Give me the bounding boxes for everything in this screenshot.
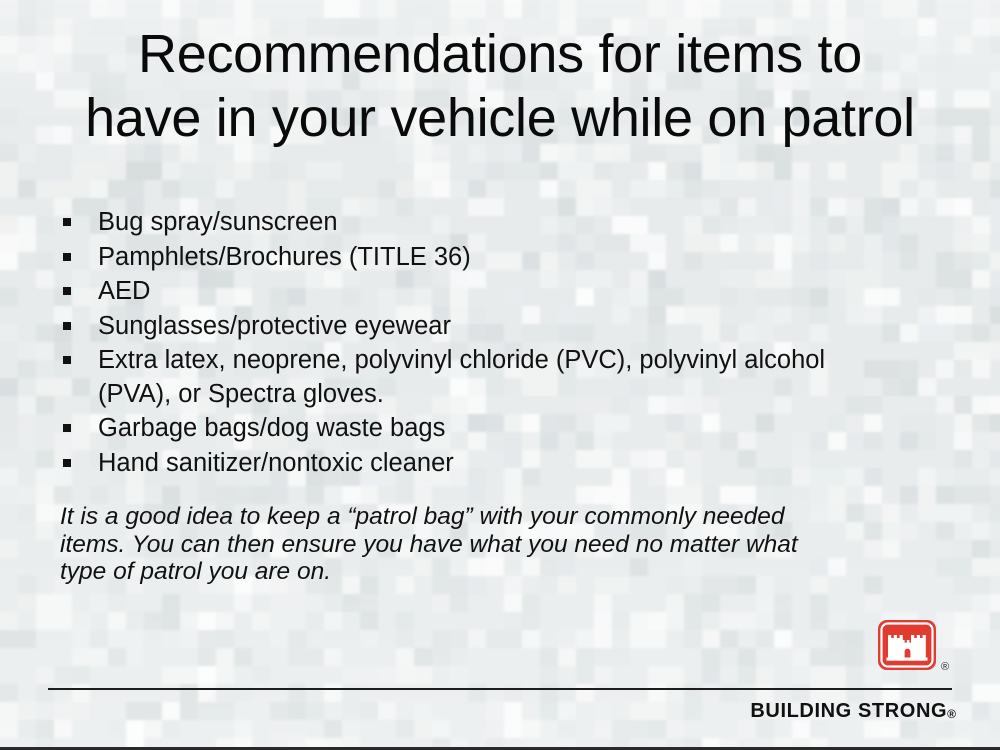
list-item: Sunglasses/protective eyewear [62, 310, 942, 344]
list-item-label: AED [98, 275, 942, 309]
us-army-corps-of-engineers-castle-icon [877, 619, 937, 671]
title-line-1: Recommendations for items to [0, 22, 1000, 86]
list-item-label: Pamphlets/Brochures (TITLE 36) [98, 241, 942, 275]
footer-divider [48, 688, 952, 690]
list-item: Hand sanitizer/nontoxic cleaner [62, 447, 942, 481]
slide-title: Recommendations for items to have in you… [0, 22, 1000, 150]
wordmark-registered-mark: ® [947, 707, 956, 721]
logo-registered-mark: ® [941, 661, 949, 673]
patrol-bag-note: It is a good idea to keep a “patrol bag”… [60, 503, 930, 586]
title-line-2: have in your vehicle while on patrol [0, 86, 1000, 150]
list-item-label: Garbage bags/dog waste bags [98, 412, 942, 446]
list-item: Garbage bags/dog waste bags [62, 412, 942, 446]
list-item-label: Extra latex, neoprene, polyvinyl chlorid… [98, 344, 942, 378]
note-line-2: items. You can then ensure you have what… [60, 531, 930, 559]
square-bullet-icon [63, 253, 71, 261]
list-item: Bug spray/sunscreen [62, 206, 942, 240]
building-strong-wordmark: BUILDING STRONG® [750, 700, 956, 723]
square-bullet-icon [63, 218, 71, 226]
note-line-3: type of patrol you are on. [60, 558, 930, 586]
square-bullet-icon [63, 356, 71, 364]
wordmark-text: BUILDING STRONG [750, 700, 947, 722]
list-item: Pamphlets/Brochures (TITLE 36) [62, 241, 942, 275]
list-item: Extra latex, neoprene, polyvinyl chlorid… [62, 344, 942, 411]
square-bullet-icon [63, 287, 71, 295]
square-bullet-icon [63, 459, 71, 467]
list-item-label: Bug spray/sunscreen [98, 206, 942, 240]
square-bullet-icon [63, 322, 71, 330]
note-line-1: It is a good idea to keep a “patrol bag”… [60, 503, 930, 531]
recommended-items-list: Bug spray/sunscreen Pamphlets/Brochures … [62, 206, 942, 481]
list-item-label-continued: (PVA), or Spectra gloves. [98, 378, 942, 412]
presentation-slide: Recommendations for items to have in you… [0, 0, 1000, 750]
list-item: AED [62, 275, 942, 309]
square-bullet-icon [63, 424, 71, 432]
list-item-label: Hand sanitizer/nontoxic cleaner [98, 447, 942, 481]
list-item-label: Sunglasses/protective eyewear [98, 310, 942, 344]
